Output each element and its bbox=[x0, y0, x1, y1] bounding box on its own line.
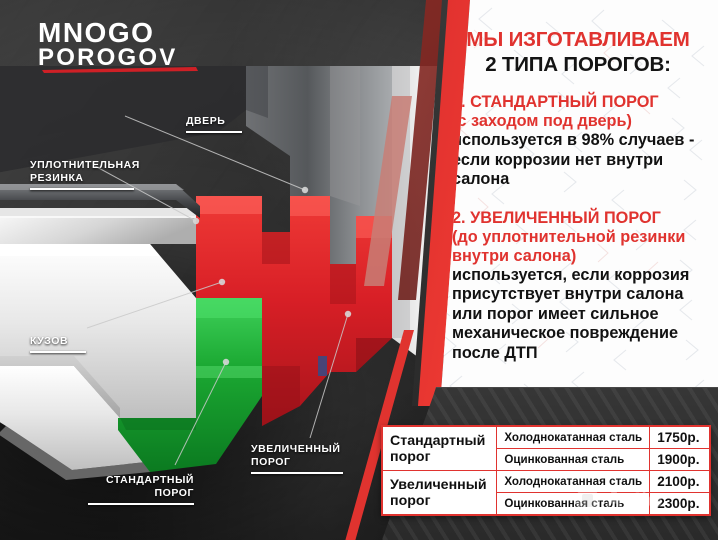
price-material: Оцинкованная сталь bbox=[497, 449, 650, 471]
sill-type-block-standard: 1. СТАНДАРТНЫЙ ПОРОГ (с заходом под двер… bbox=[452, 93, 704, 190]
price-value: 1900р. bbox=[650, 449, 710, 471]
table-row: Увеличенный порог Холоднокатанная сталь … bbox=[382, 471, 710, 493]
panel-heading-line2: 2 ТИПА ПОРОГОВ: bbox=[452, 53, 704, 76]
price-material: Холоднокатанная сталь bbox=[497, 471, 650, 493]
price-type-standard: Стандартный порог bbox=[382, 426, 497, 471]
brand-logo: MNOGO POROGOV bbox=[36, 16, 204, 74]
price-table: Стандартный порог Холоднокатанная сталь … bbox=[381, 425, 711, 516]
price-value: 1750р. bbox=[650, 426, 710, 449]
panel-heading-line1: МЫ ИЗГОТАВЛИВАЕМ bbox=[452, 28, 704, 51]
enlarged-type-title: 2. УВЕЛИЧЕННЫЙ ПОРОГ bbox=[452, 209, 704, 228]
standard-type-body: используется в 98% случаев - если корроз… bbox=[452, 131, 704, 190]
price-value: 2300р. bbox=[650, 493, 710, 516]
price-material: Холоднокатанная сталь bbox=[497, 426, 650, 449]
standard-type-subtitle: (с заходом под дверь) bbox=[452, 112, 704, 131]
sill-type-block-enlarged: 2. УВЕЛИЧЕННЫЙ ПОРОГ (до уплотнительной … bbox=[452, 209, 704, 364]
enlarged-type-subtitle: (до уплотнительной резинки внутри салона… bbox=[452, 228, 704, 266]
advertisement-image: ДВЕРЬ УПЛОТНИТЕЛЬНАЯ РЕЗИНКА КУЗОВ СТАНД… bbox=[0, 0, 718, 540]
panel-heading: МЫ ИЗГОТАВЛИВАЕМ 2 ТИПА ПОРОГОВ: bbox=[452, 28, 704, 76]
table-row: Стандартный порог Холоднокатанная сталь … bbox=[382, 426, 710, 449]
price-material: Оцинкованная сталь bbox=[497, 493, 650, 516]
price-type-enlarged: Увеличенный порог bbox=[382, 471, 497, 516]
logo-line-2-text: POROGOV bbox=[38, 44, 177, 71]
price-value: 2100р. bbox=[650, 471, 710, 493]
standard-type-title: 1. СТАНДАРТНЫЙ ПОРОГ bbox=[452, 93, 704, 112]
enlarged-type-body: используется, если коррозия присутствует… bbox=[452, 266, 704, 364]
